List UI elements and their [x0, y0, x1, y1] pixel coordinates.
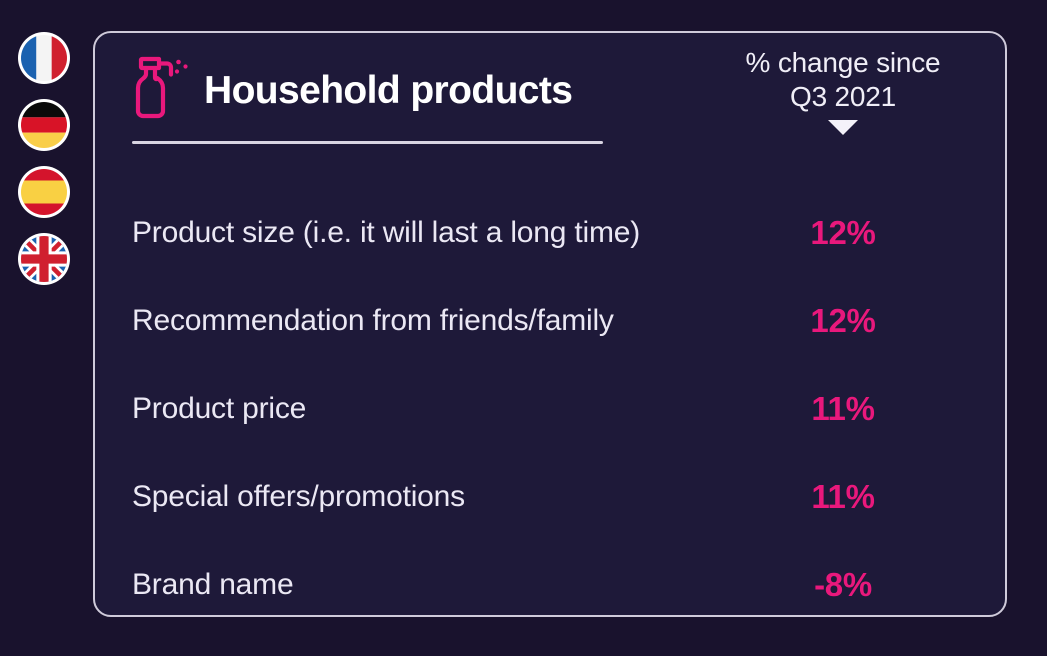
flag-button-spain[interactable] [18, 166, 70, 218]
spray-bottle-icon [132, 55, 190, 119]
title-divider [132, 141, 603, 144]
driver-change-value: 11% [717, 390, 969, 428]
driver-change-value: 11% [717, 478, 969, 516]
language-flag-rail [18, 32, 70, 285]
table-row: Product price 11% [95, 365, 1005, 453]
driver-label: Special offers/promotions [132, 480, 717, 514]
driver-change-value: 12% [717, 214, 969, 252]
flag-button-germany[interactable] [18, 99, 70, 151]
card-title-group: Household products [132, 55, 572, 119]
driver-label: Product price [132, 392, 717, 426]
flag-button-united-kingdom[interactable] [18, 233, 70, 285]
table-row: Brand name -8% [95, 541, 1005, 629]
france-flag-icon [21, 35, 67, 81]
germany-flag-icon [21, 102, 67, 148]
united-kingdom-flag-icon [21, 236, 67, 282]
table-row: Special offers/promotions 11% [95, 453, 1005, 541]
change-header-line-1: % change since [717, 46, 969, 80]
household-products-card: Household products % change since Q3 202… [93, 31, 1007, 617]
triangle-down-icon [828, 120, 858, 135]
table-row: Recommendation from friends/family 12% [95, 277, 1005, 365]
table-row: Product size (i.e. it will last a long t… [95, 189, 1005, 277]
change-column-header: % change since Q3 2021 [717, 46, 969, 135]
driver-label: Product size (i.e. it will last a long t… [132, 216, 717, 250]
driver-label: Brand name [132, 568, 717, 602]
driver-label: Recommendation from friends/family [132, 304, 717, 338]
spain-flag-icon [21, 169, 67, 215]
page-title: Household products [204, 61, 572, 113]
change-header-line-2: Q3 2021 [717, 80, 969, 114]
driver-rows: Product size (i.e. it will last a long t… [95, 189, 1005, 629]
driver-change-value: 12% [717, 302, 969, 340]
card-header: Household products % change since Q3 202… [95, 33, 1005, 153]
screen: Household products % change since Q3 202… [0, 0, 1047, 656]
flag-button-france[interactable] [18, 32, 70, 84]
driver-change-value: -8% [717, 566, 969, 604]
